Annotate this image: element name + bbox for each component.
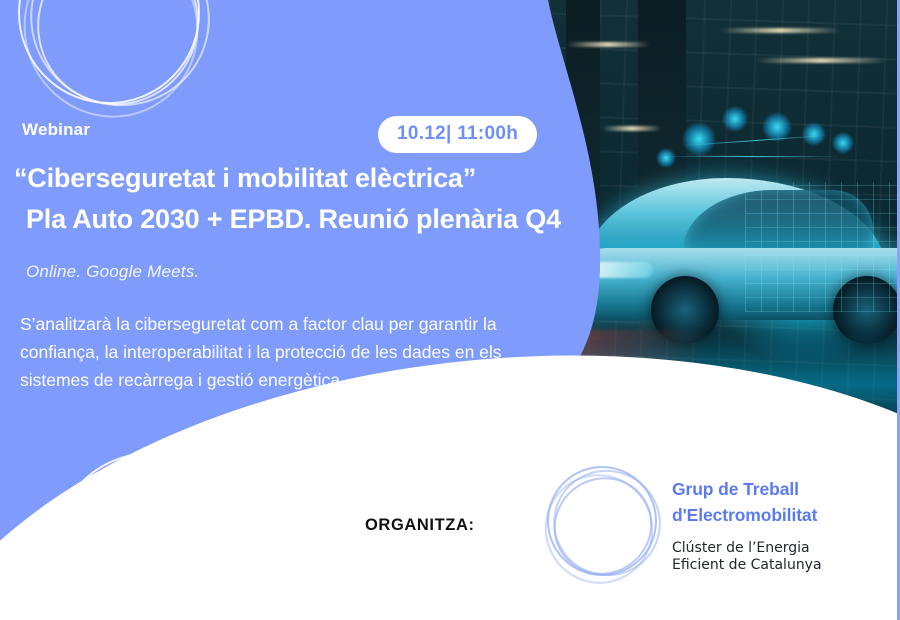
hud-connector [660, 156, 840, 157]
sketch-rings-decor-top-left [18, 0, 218, 122]
headline-line-2: Pla Auto 2030 + EPBD. Reunió plenària Q4 [14, 199, 634, 240]
brand-tagline-line-2: Eficient de Catalunya [672, 557, 822, 573]
brand-tagline: Clúster de l’Energia Eficient de Catalun… [672, 540, 892, 574]
description-text: S’analitzarà la ciberseguretat com a fac… [20, 310, 530, 394]
venue-label: Online. Google Meets. [26, 262, 199, 282]
sketch-rings-decor-bottom-left [52, 452, 272, 620]
window-light [602, 126, 662, 131]
brand-name-line-1: Grup de Treball [672, 479, 799, 499]
webinar-poster: Webinar 10.12| 11:00h “Ciberseguretat i … [0, 0, 900, 620]
window-light [720, 28, 840, 33]
sketch-rings-logo [543, 462, 661, 584]
brand-tagline-line-1: Clúster de l’Energia [672, 540, 810, 556]
window-light [756, 58, 886, 63]
kicker-label: Webinar [22, 120, 90, 140]
ring-stroke [534, 457, 672, 594]
headline-line-1: “Ciberseguretat i mobilitat elèctrica” [14, 163, 476, 193]
window-light [566, 42, 650, 47]
organizer-label: ORGANITZA: [365, 516, 475, 535]
network-node-icon [802, 122, 826, 146]
lock-icon [722, 106, 748, 132]
shield-icon [682, 122, 716, 156]
network-node-icon [832, 132, 854, 154]
logo-ring-group [543, 462, 661, 584]
car-wireframe-overlay [745, 182, 900, 312]
brand-name-line-2: d'Electromobilitat [672, 505, 817, 525]
network-node-icon [656, 148, 676, 168]
brand-name: Grup de Treball d'Electromobilitat [672, 476, 892, 528]
page-title: “Ciberseguretat i mobilitat elèctrica” P… [14, 158, 634, 240]
date-badge: 10.12| 11:00h [378, 116, 537, 153]
